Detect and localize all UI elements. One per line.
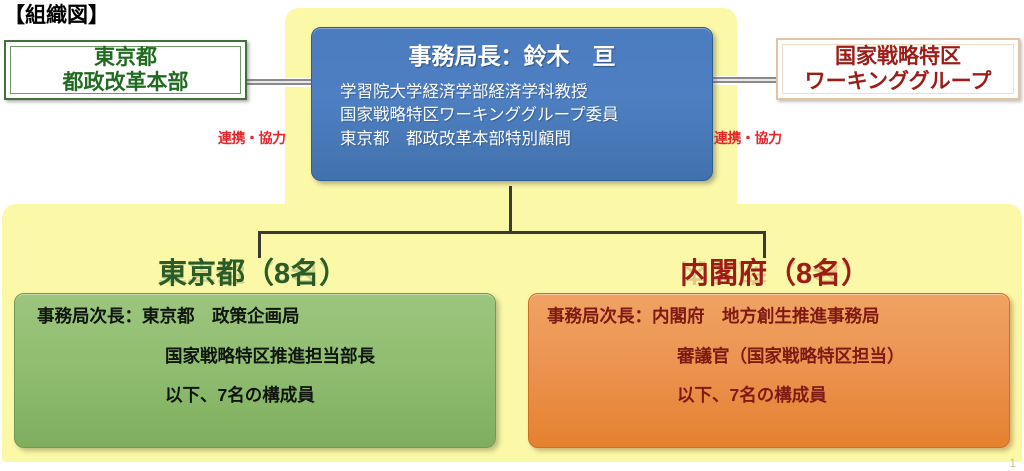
node-cabinet-office-members[interactable]: 事務局次長：内閣府 地方創生推進事務局 審議官（国家戦略特区担当） 以下、7名の… bbox=[528, 293, 1010, 448]
connector-vertical-trunk bbox=[509, 186, 512, 233]
node-tokyo-members[interactable]: 事務局次長：東京都 政策企画局 国家戦略特区推進担当部長 以下、7名の構成員 bbox=[14, 293, 496, 448]
node-cabinet-office-members-line2: 審議官（国家戦略特区担当） bbox=[529, 348, 1009, 366]
affiliation-line-1: 学習院大学経済学部経済学科教授 bbox=[340, 81, 712, 104]
group-heading-cabinet-office-text: 内閣府（8名） bbox=[680, 258, 870, 290]
link-label-right: 連携・協力 bbox=[714, 128, 782, 148]
node-tokyo-reform-hq[interactable]: 東京都 都政改革本部 bbox=[4, 40, 247, 100]
organization-chart-slide: 【組織図】 連携・協力 連携・協力 東京都 都政改革本部 事務局長：鈴木 亘 学… bbox=[0, 0, 1024, 471]
page-number: 1 bbox=[1009, 456, 1016, 470]
link-label-left: 連携・協力 bbox=[218, 128, 286, 148]
node-tokyo-reform-hq-line2: 都政改革本部 bbox=[63, 70, 189, 95]
node-tokyo-members-line2: 国家戦略特区推進担当部長 bbox=[15, 348, 495, 366]
node-cabinet-office-members-line3: 以下、7名の構成員 bbox=[529, 387, 1009, 405]
connector-link-right bbox=[708, 76, 778, 85]
group-heading-tokyo-text: 東京都（8名） bbox=[158, 258, 348, 290]
node-secretary-general-heading: 事務局長：鈴木 亘 bbox=[312, 37, 712, 71]
connector-link-left bbox=[245, 78, 313, 87]
node-secretary-general[interactable]: 事務局長：鈴木 亘 学習院大学経済学部経済学科教授 国家戦略特区ワーキンググルー… bbox=[311, 27, 713, 181]
node-national-strategic-zone-wg[interactable]: 国家戦略特区 ワーキンググループ bbox=[776, 38, 1020, 100]
node-cabinet-office-members-line1: 事務局次長：内閣府 地方創生推進事務局 bbox=[529, 308, 1009, 326]
affiliation-line-3: 東京都 都政改革本部特別顧問 bbox=[340, 128, 712, 151]
affiliation-line-2: 国家戦略特区ワーキンググループ委員 bbox=[340, 104, 712, 127]
node-national-strategic-zone-wg-line2: ワーキンググループ bbox=[805, 69, 992, 94]
node-national-strategic-zone-wg-line1: 国家戦略特区 bbox=[835, 44, 961, 69]
node-secretary-general-affiliations: 学習院大学経済学部経済学科教授 国家戦略特区ワーキンググループ委員 東京都 都政… bbox=[312, 81, 712, 151]
group-heading-cabinet-office: 内閣府（8名） 内閣府（8名） bbox=[680, 250, 870, 292]
node-tokyo-members-line3: 以下、7名の構成員 bbox=[15, 387, 495, 405]
node-tokyo-reform-hq-line1: 東京都 bbox=[94, 45, 157, 70]
group-heading-tokyo: 東京都（8名） 東京都（8名） bbox=[158, 250, 348, 292]
node-tokyo-members-line1: 事務局次長：東京都 政策企画局 bbox=[15, 308, 495, 326]
page-title: 【組織図】 bbox=[4, 0, 109, 29]
connector-horizontal-bar bbox=[258, 231, 766, 234]
